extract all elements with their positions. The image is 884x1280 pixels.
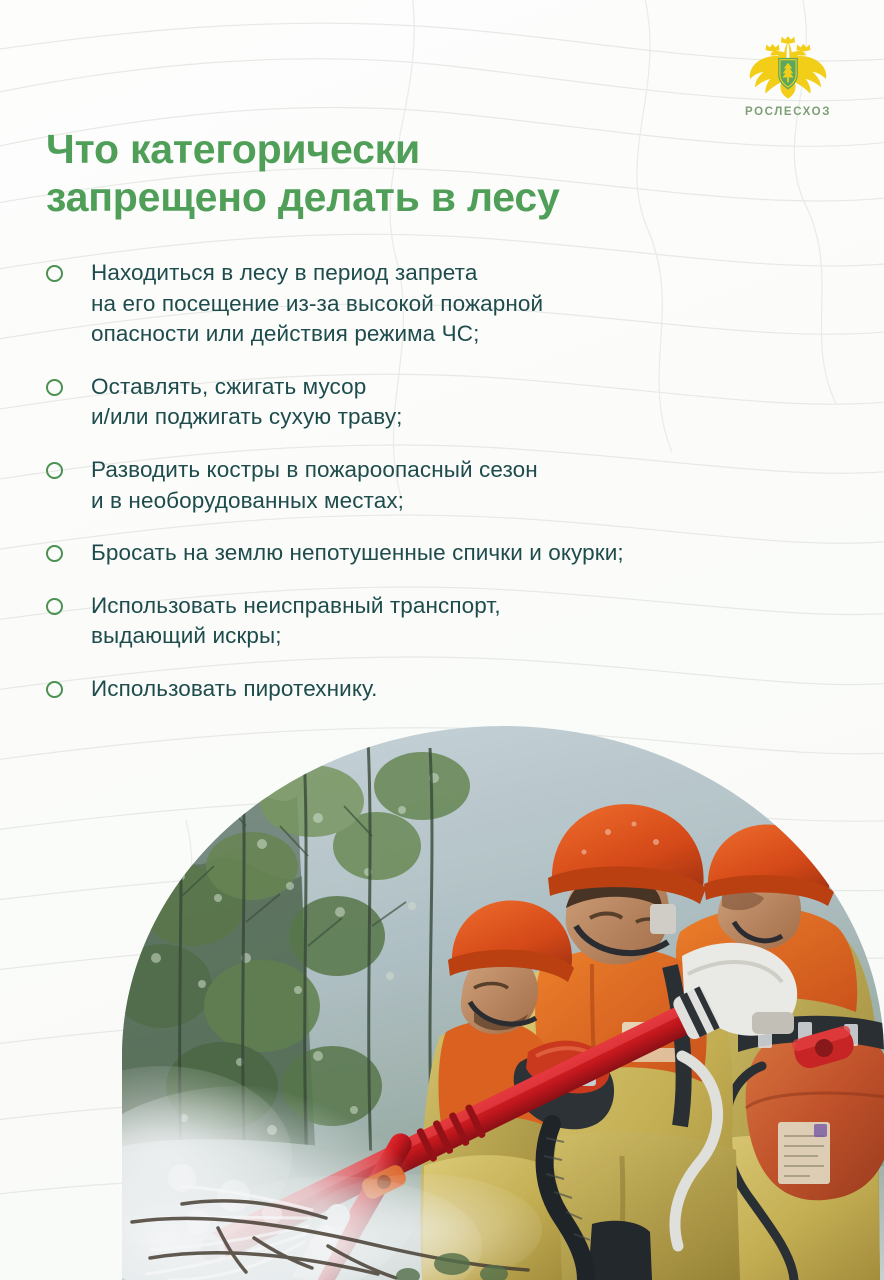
circle-bullet-icon xyxy=(46,681,63,698)
list-item: Использовать пиротехнику. xyxy=(46,674,846,705)
list-item-label: Бросать на землю непотушенные спички и о… xyxy=(91,538,624,569)
page-title-line-1: Что категорически xyxy=(46,126,706,174)
list-item: Находиться в лесу в период запрета на ег… xyxy=(46,258,846,350)
list-item-label: Использовать неисправный транспорт, выда… xyxy=(91,591,501,652)
logo-wordmark: РОСЛЕСХОЗ xyxy=(745,106,831,118)
firefighters-photo xyxy=(122,726,884,1280)
list-item: Бросать на землю непотушенные спички и о… xyxy=(46,538,846,569)
list-item-label: Разводить костры в пожароопасный сезон и… xyxy=(91,455,538,516)
poster-root: РОСЛЕСХОЗ Что категорически запрещено де… xyxy=(0,0,884,1280)
list-item: Оставлять, сжигать мусор и/или поджигать… xyxy=(46,372,846,433)
list-item-label: Находиться в лесу в период запрета на ег… xyxy=(91,258,543,350)
page-title: Что категорически запрещено делать в лес… xyxy=(46,126,706,221)
firefighters-photo-illustration xyxy=(122,726,884,1280)
circle-bullet-icon xyxy=(46,545,63,562)
circle-bullet-icon xyxy=(46,462,63,479)
page-title-line-2: запрещено делать в лесу xyxy=(46,174,706,222)
list-item-label: Оставлять, сжигать мусор и/или поджигать… xyxy=(91,372,403,433)
circle-bullet-icon xyxy=(46,379,63,396)
prohibitions-list: Находиться в лесу в период запрета на ег… xyxy=(46,258,846,705)
rosleskhoz-logo: РОСЛЕСХОЗ xyxy=(728,34,848,118)
list-item-label: Использовать пиротехнику. xyxy=(91,674,378,705)
circle-bullet-icon xyxy=(46,265,63,282)
list-item: Разводить костры в пожароопасный сезон и… xyxy=(46,455,846,516)
circle-bullet-icon xyxy=(46,598,63,615)
list-item: Использовать неисправный транспорт, выда… xyxy=(46,591,846,652)
double-headed-eagle-icon xyxy=(745,34,831,100)
